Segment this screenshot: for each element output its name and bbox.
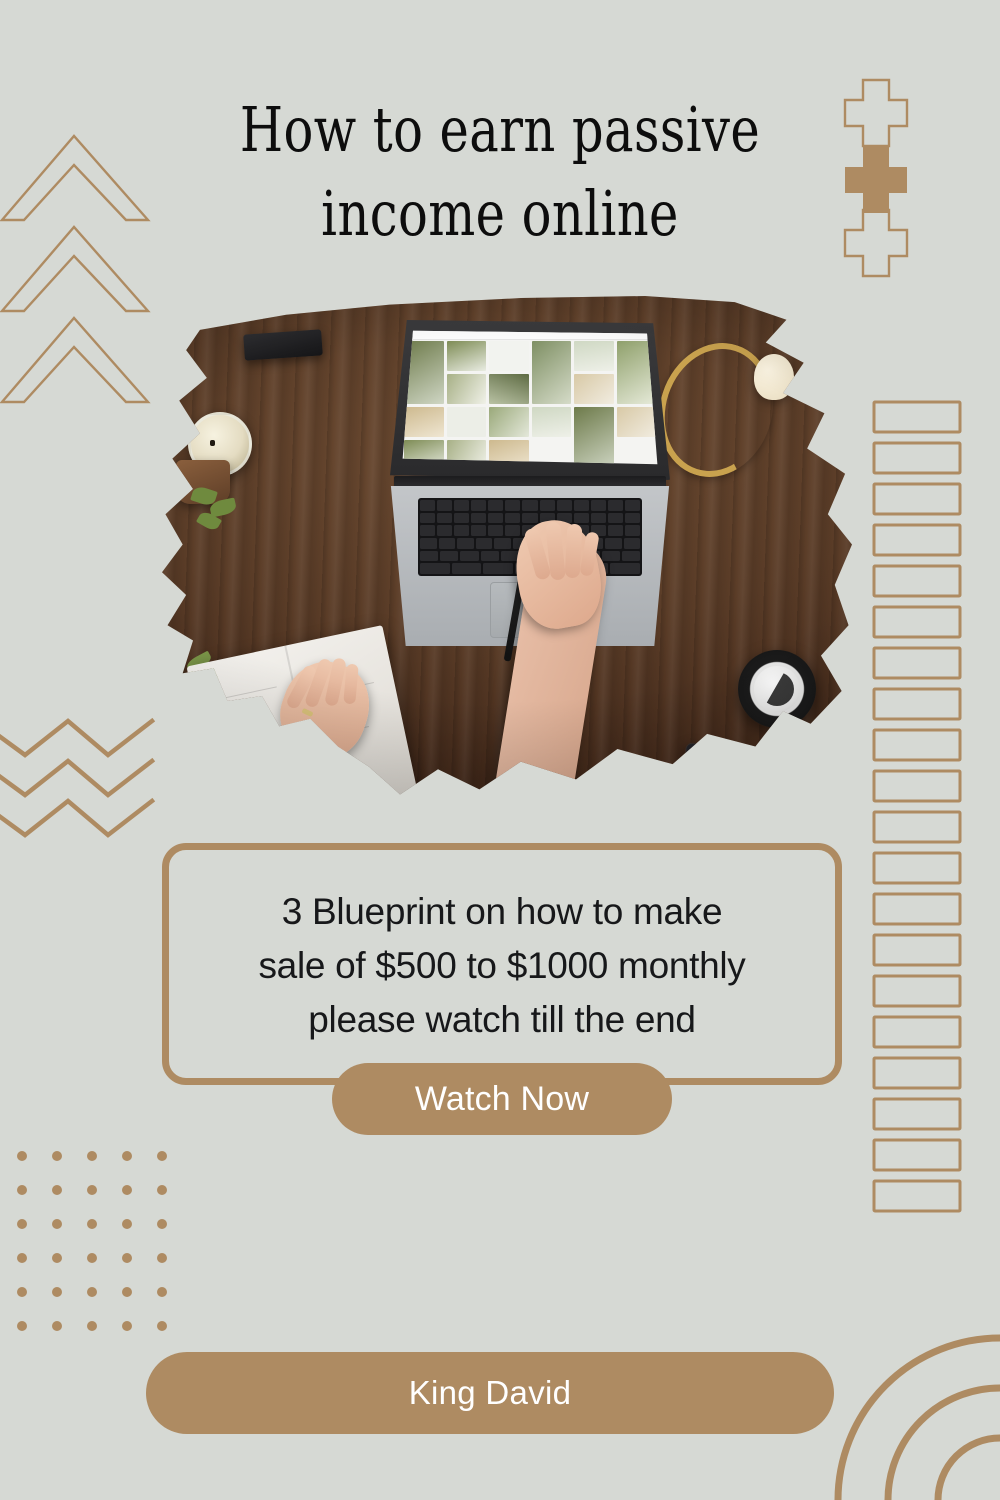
watch-now-button[interactable]: Watch Now xyxy=(332,1063,672,1135)
concentric-arcs-decoration xyxy=(825,1285,1000,1500)
title-line-1: How to earn passive xyxy=(148,88,852,172)
rectangle-stack-decoration xyxy=(872,400,992,1225)
title-line-2: income online xyxy=(148,172,852,256)
info-line-1: 3 Blueprint on how to make xyxy=(182,885,822,939)
dot-grid-decoration xyxy=(12,1148,177,1338)
info-line-3: please watch till the end xyxy=(182,993,822,1047)
poster-canvas: How to earn passive income online xyxy=(0,0,1000,1500)
photo-vignette xyxy=(162,292,852,797)
page-title: How to earn passive income online xyxy=(60,88,940,256)
watch-now-label: Watch Now xyxy=(415,1080,589,1119)
hero-photo xyxy=(162,292,852,797)
info-text: 3 Blueprint on how to make sale of $500 … xyxy=(182,885,822,1047)
author-bar[interactable]: King David xyxy=(146,1352,834,1434)
info-line-2: sale of $500 to $1000 monthly xyxy=(182,939,822,993)
author-name: King David xyxy=(409,1374,572,1412)
desk-photo-image xyxy=(162,292,852,797)
zigzag-decoration xyxy=(0,715,165,845)
